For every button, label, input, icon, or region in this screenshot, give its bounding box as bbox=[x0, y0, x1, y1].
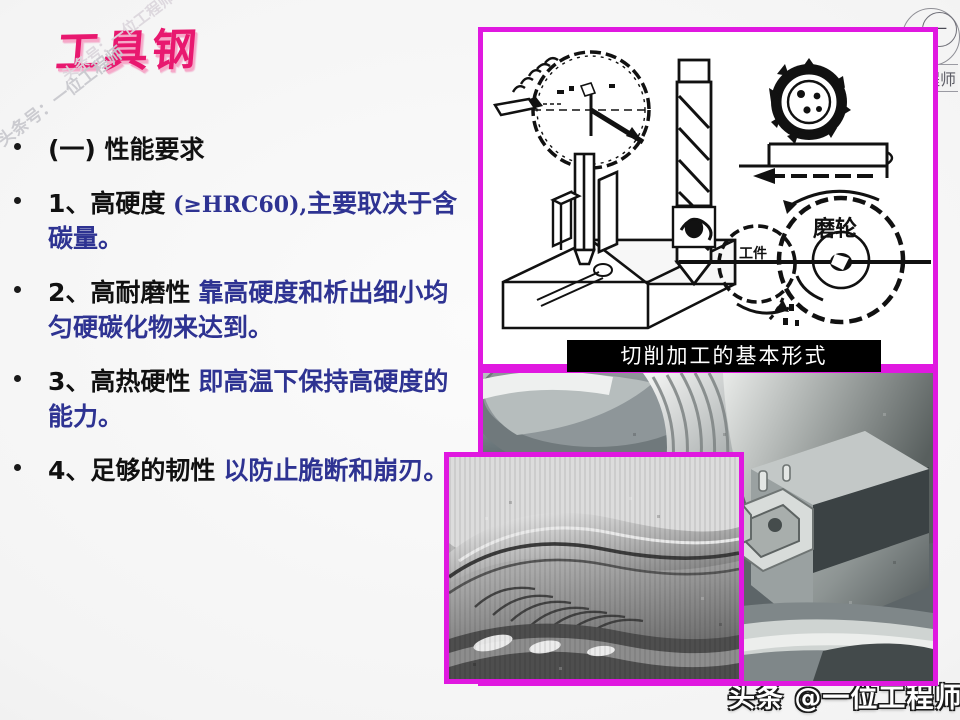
label-grinding-wheel: 磨轮 bbox=[813, 216, 857, 242]
bullet-dot-icon bbox=[14, 197, 21, 204]
bullet-heading: 1、高硬度 bbox=[48, 189, 165, 218]
bullet-heading: 3、高热硬性 bbox=[48, 367, 190, 396]
list-item: 1、高硬度 (≥HRC60),主要取决于含碳量。 bbox=[0, 186, 470, 257]
slide-canvas: 工具钢 头条号：一位工程师 头条号：一位工程师 一 程师 头条 @一位工程师 (… bbox=[0, 0, 960, 720]
page-title: 工具钢 bbox=[54, 28, 202, 75]
bullet-dot-icon bbox=[14, 375, 21, 382]
bullet-hardness-value: (≥HRC60), bbox=[165, 192, 307, 218]
list-item: (一) 性能要求 bbox=[0, 132, 470, 168]
list-item: 2、高耐磨性 靠高硬度和析出细小均匀硬碳化物来达到。 bbox=[0, 275, 470, 346]
photo-panel-inset bbox=[444, 452, 744, 684]
bullet-list: (一) 性能要求 1、高硬度 (≥HRC60),主要取决于含碳量。 2、高耐磨性… bbox=[0, 132, 470, 506]
diagram-caption: 切削加工的基本形式 bbox=[567, 340, 881, 372]
bullet-dot-icon bbox=[14, 143, 21, 150]
machining-operations-diagram: 磨轮 工件 bbox=[483, 32, 933, 364]
bullet-body: 以防止脆断和崩刃。 bbox=[223, 456, 448, 485]
bullet-heading: 4、足够的韧性 bbox=[48, 456, 215, 485]
chip-formation-photo bbox=[449, 457, 739, 679]
list-item: 4、足够的韧性 以防止脆断和崩刃。 bbox=[0, 453, 470, 489]
list-item: 3、高热硬性 即高温下保持高硬度的能力。 bbox=[0, 364, 470, 435]
bullet-dot-icon bbox=[14, 286, 21, 293]
label-workpiece: 工件 bbox=[739, 245, 767, 262]
bullet-heading: (一) 性能要求 bbox=[48, 135, 205, 164]
bullet-dot-icon bbox=[14, 464, 21, 471]
diagram-panel: 磨轮 工件 切削加工的基本形式 bbox=[478, 27, 938, 369]
bullet-heading: 2、高耐磨性 bbox=[48, 278, 190, 307]
